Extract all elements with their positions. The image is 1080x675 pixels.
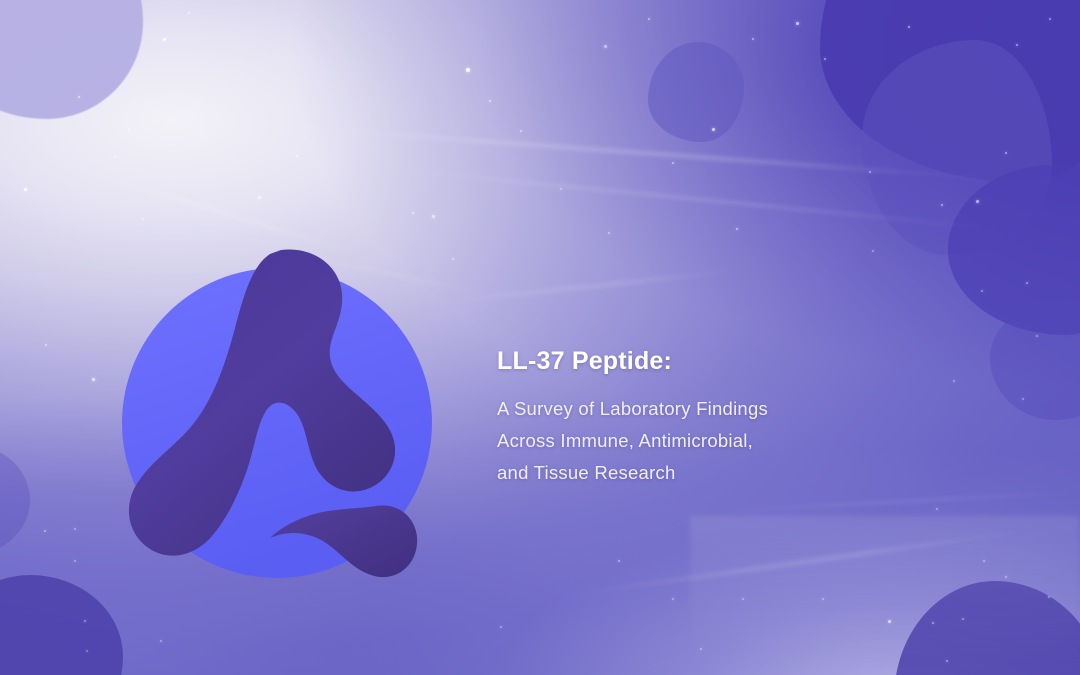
subtitle: A Survey of Laboratory Findings Across I… [497,393,917,489]
subtitle-line-1: A Survey of Laboratory Findings [497,393,917,425]
page-title: LL-37 Peptide: [497,348,917,376]
banner-canvas: LL-37 Peptide: A Survey of Laboratory Fi… [0,0,1080,675]
brand-logo [118,244,438,584]
headline-block: LL-37 Peptide: A Survey of Laboratory Fi… [497,348,917,489]
subtitle-line-2: Across Immune, Antimicrobial, [497,425,917,457]
subtitle-line-3: and Tissue Research [497,457,917,489]
peptide-mark-icon [118,244,438,584]
